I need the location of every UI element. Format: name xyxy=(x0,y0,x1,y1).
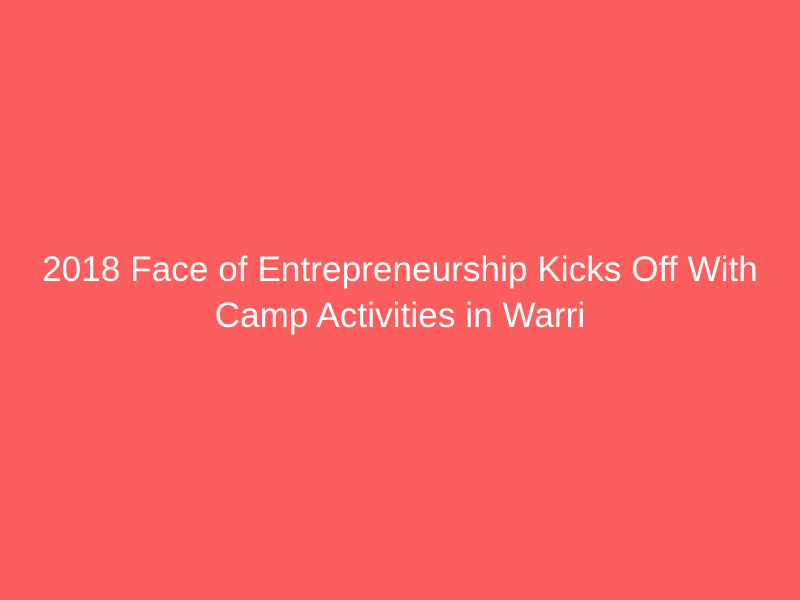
article-headline-placeholder: 2018 Face of Entrepreneurship Kicks Off … xyxy=(0,0,800,600)
headline-block: 2018 Face of Entrepreneurship Kicks Off … xyxy=(0,247,800,339)
page-title: 2018 Face of Entrepreneurship Kicks Off … xyxy=(34,247,766,339)
